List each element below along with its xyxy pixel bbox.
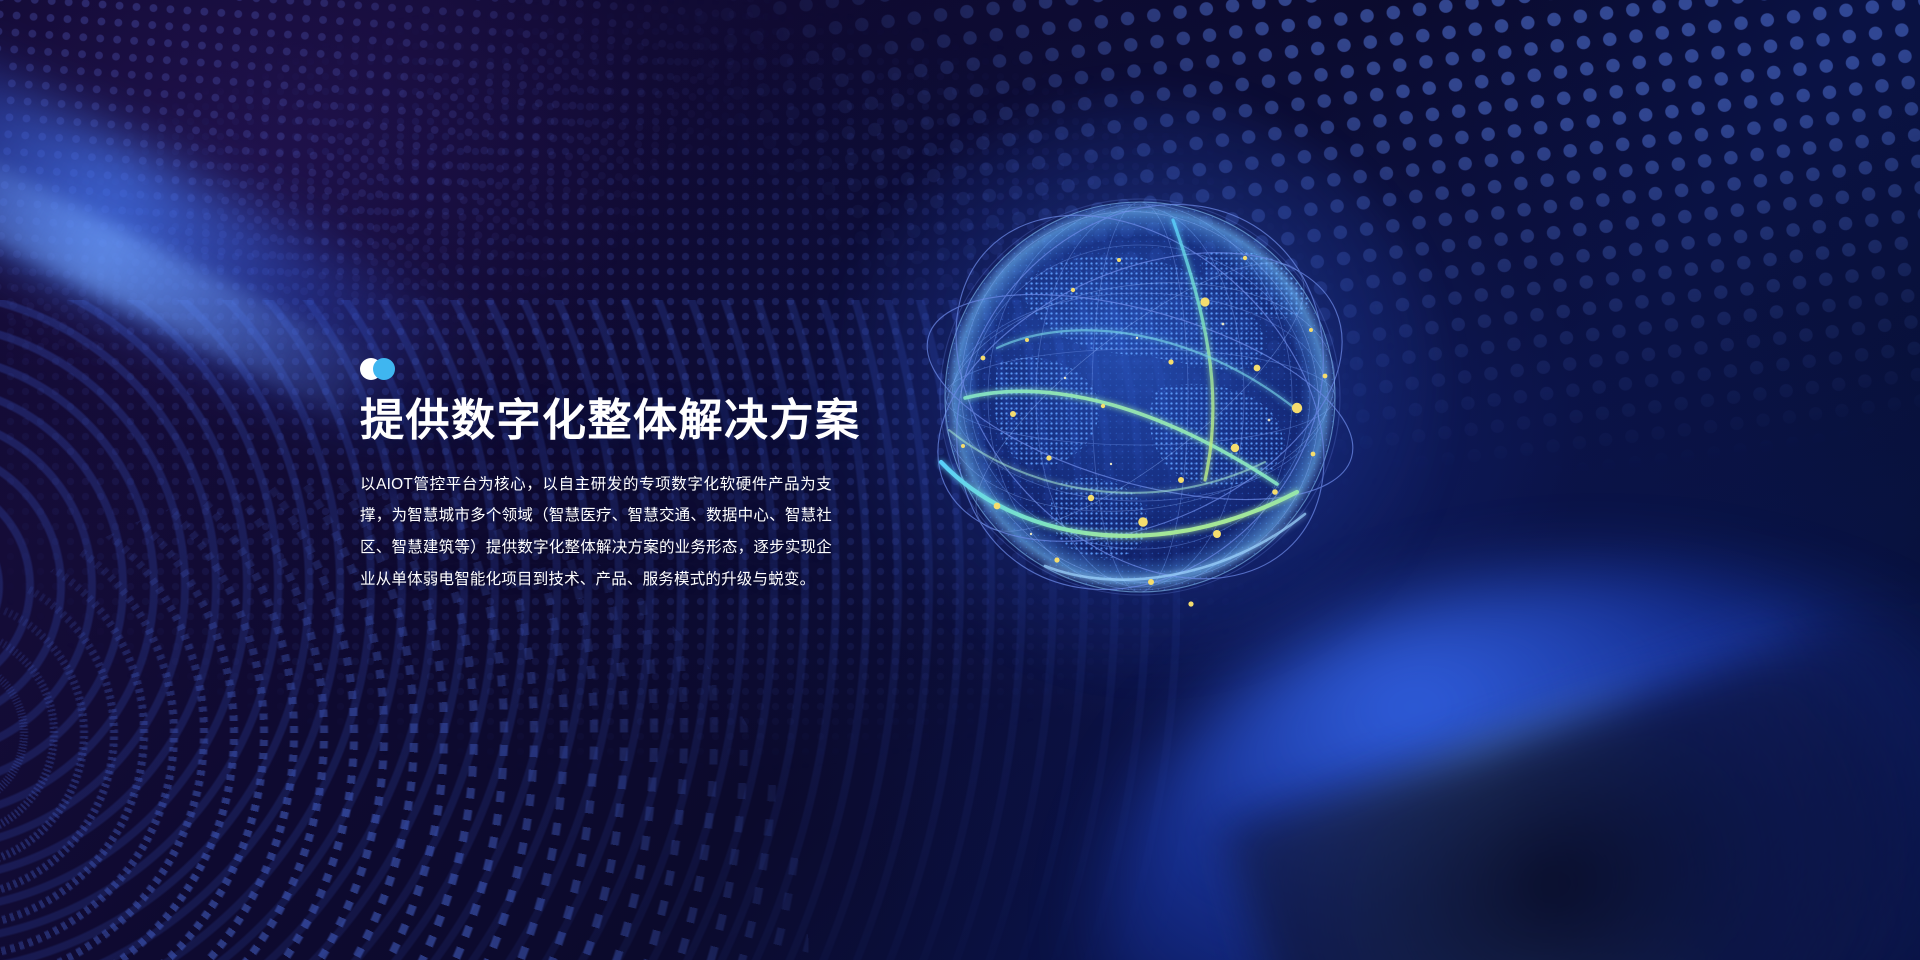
halftone-dot-grid-top-left [0, 0, 1920, 960]
hero-copy: 提供数字化整体解决方案 以AIOT管控平台为核心，以自主研发的专项数字化软硬件产… [360, 358, 760, 596]
bottom-right-glow [1100, 570, 1920, 960]
halftone-dot-grid-center [0, 0, 1920, 960]
bottom-right-glow-edge [1214, 609, 1920, 960]
halftone-dot-grid-top-right [0, 0, 1920, 960]
digital-globe [905, 162, 1375, 632]
diagonal-light-streak-core [0, 114, 395, 431]
globe-halo [835, 92, 1445, 702]
globe-svg [905, 162, 1375, 632]
logo-dots-icon [360, 358, 416, 380]
hero-description: 以AIOT管控平台为核心，以自主研发的专项数字化软硬件产品为支撑，为智慧城市多个… [360, 469, 832, 596]
hero-banner: 提供数字化整体解决方案 以AIOT管控平台为核心，以自主研发的专项数字化软硬件产… [0, 0, 1920, 960]
page-title: 提供数字化整体解决方案 [360, 398, 760, 445]
blue-dot-icon [373, 358, 395, 380]
bottom-right-shadow [1218, 595, 1920, 960]
